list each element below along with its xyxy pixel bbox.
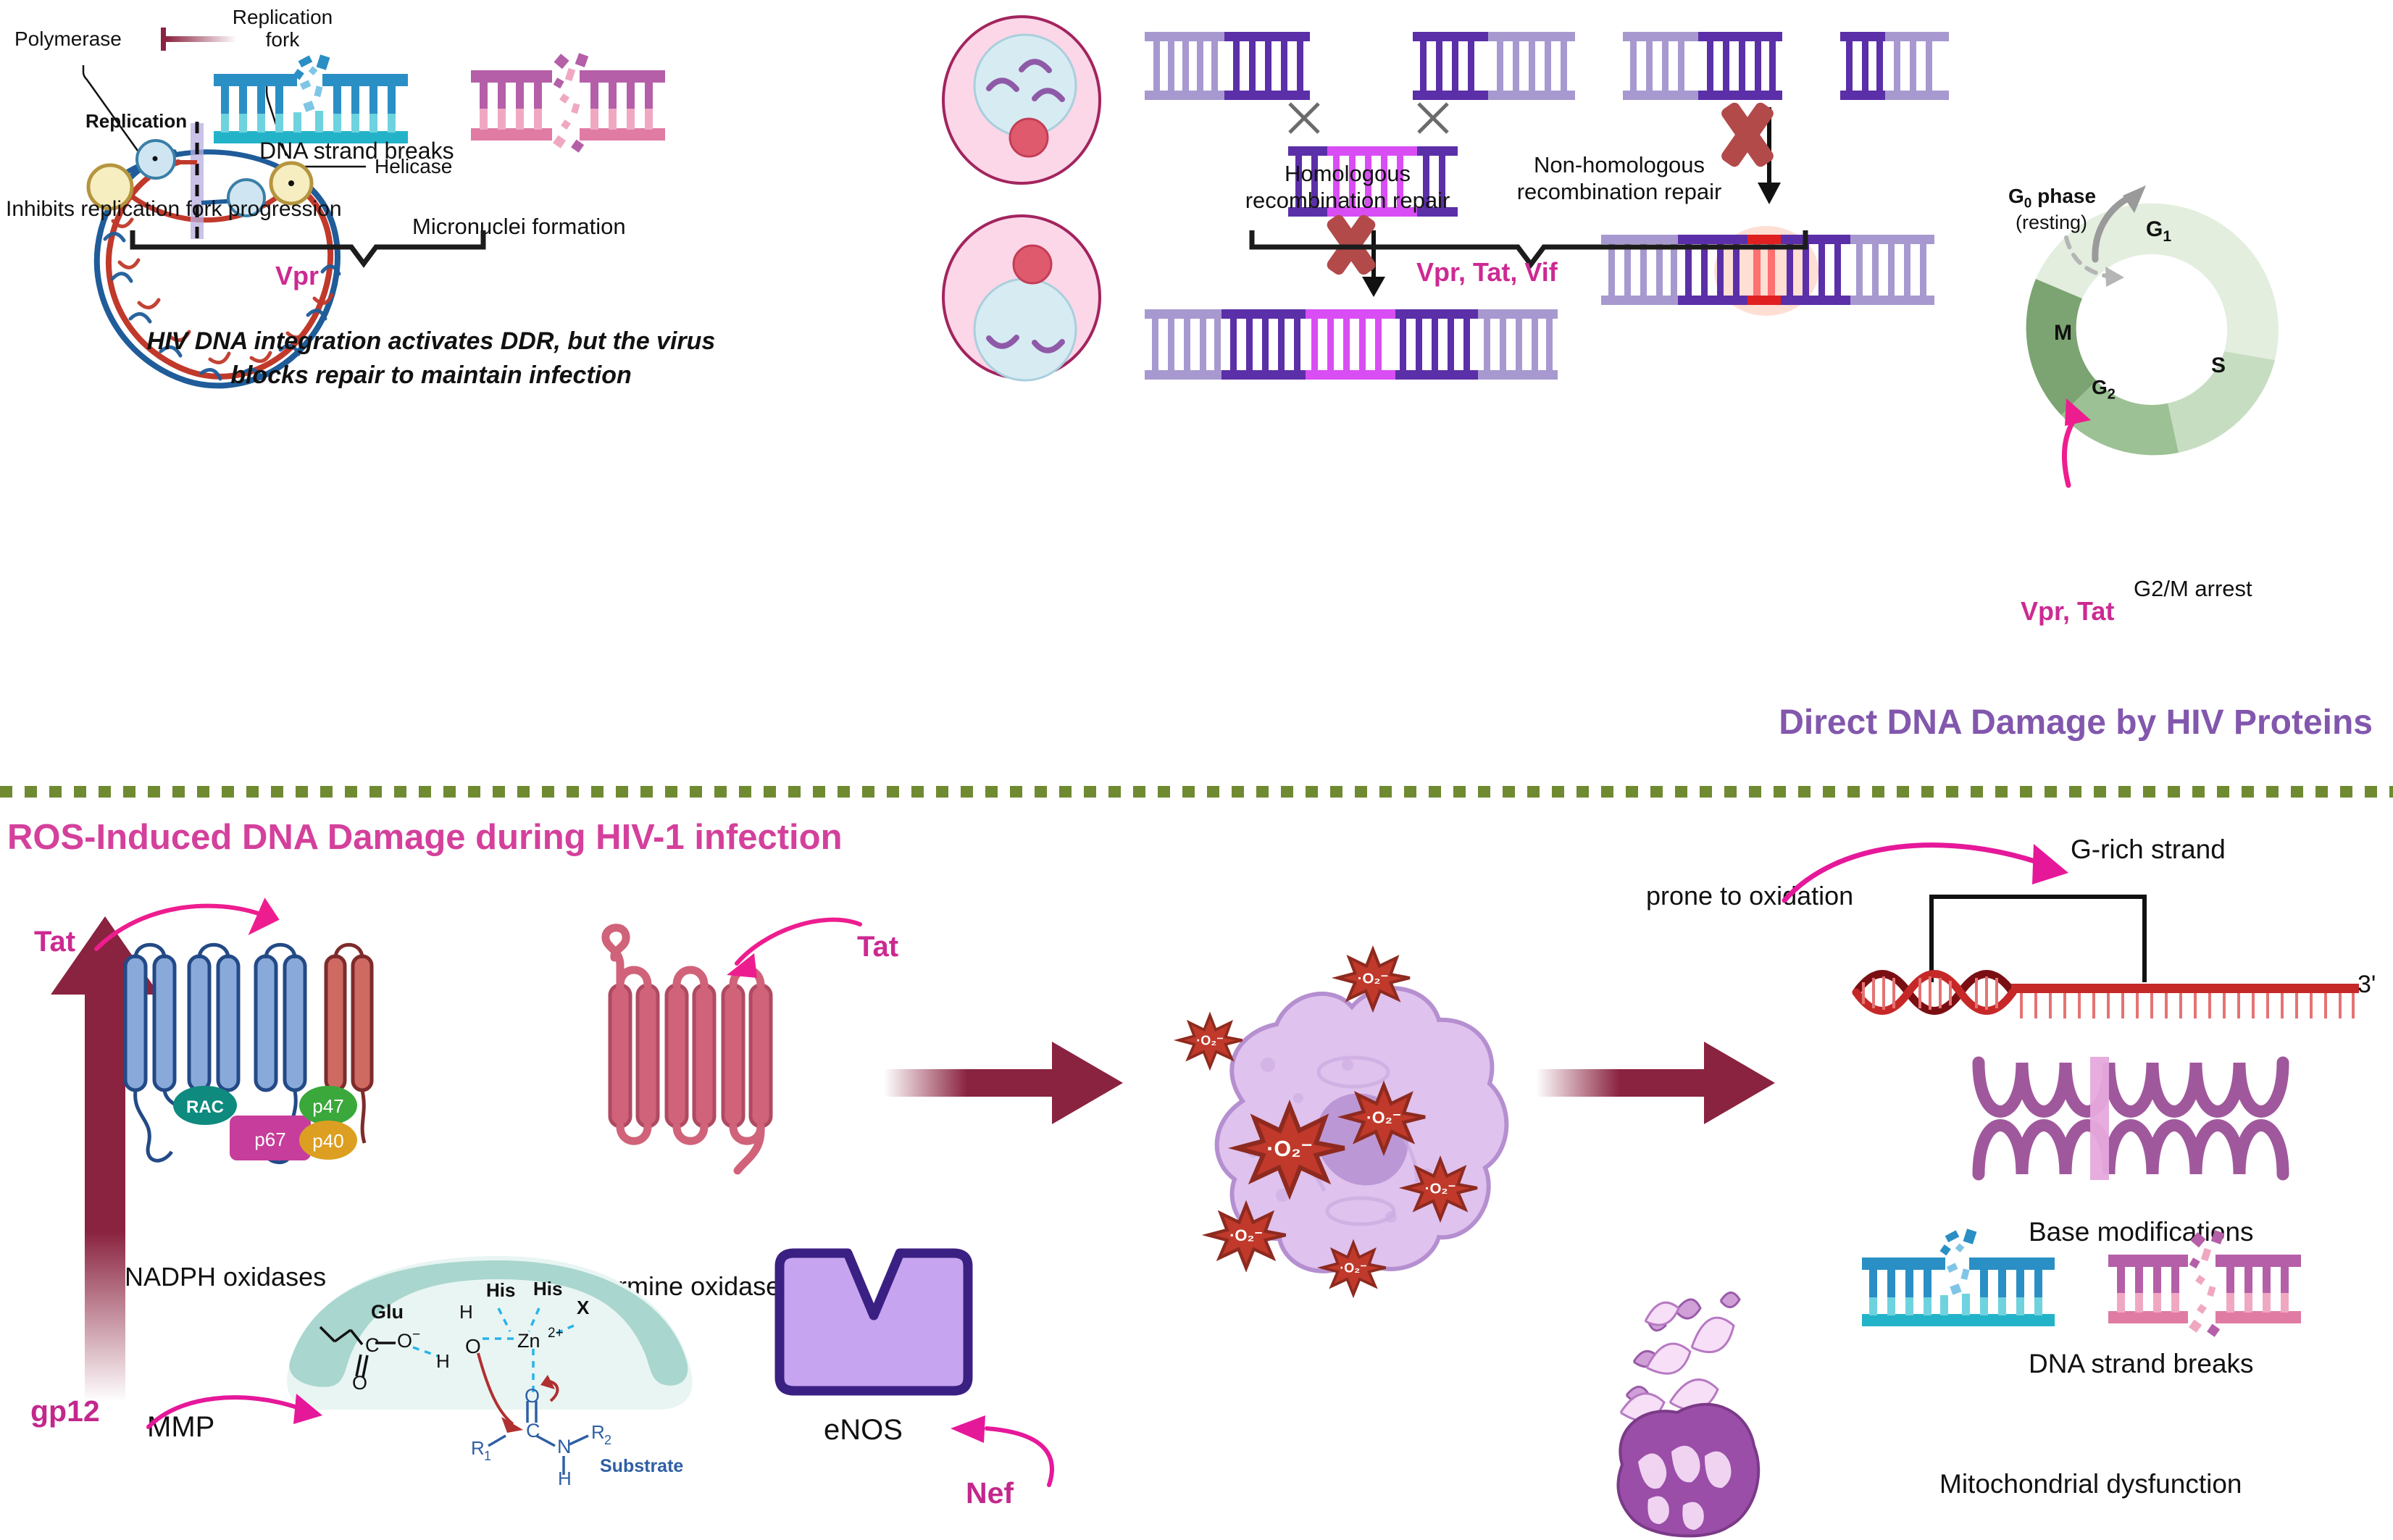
nonhomologous-repair-label: Non-homologous recombination repair xyxy=(1460,152,1779,205)
gp12-arrow xyxy=(141,1385,337,1450)
homologous-repair-label: Homologous recombination repair xyxy=(1224,161,1471,214)
dna-break-pink xyxy=(471,62,703,156)
micronucleus-dot xyxy=(1010,119,1048,156)
mmp-c1: C xyxy=(365,1334,380,1356)
mmp-h-top: H xyxy=(459,1301,473,1323)
mmp-r2: R xyxy=(591,1421,605,1443)
section-divider xyxy=(0,786,2393,798)
flow-arrow-2 xyxy=(1536,1036,1826,1130)
svg-text:·O₂⁻: ·O₂⁻ xyxy=(1366,1108,1401,1126)
svg-text:2: 2 xyxy=(604,1433,611,1447)
mmp-o-water: O xyxy=(465,1335,481,1357)
mmp-zn: Zn xyxy=(517,1330,540,1352)
three-prime-label: 3' xyxy=(2357,971,2376,999)
subunit-p67-text: p67 xyxy=(254,1129,285,1150)
s-label: S xyxy=(2211,353,2226,378)
polymerase-label: Polymerase xyxy=(14,28,122,51)
mmp-substrate: Substrate xyxy=(600,1456,683,1476)
m-label: M xyxy=(2054,321,2072,346)
base-modifications-helix xyxy=(1967,1047,2329,1192)
tat-label-nadph: Tat xyxy=(34,926,75,958)
crossover-x-icon xyxy=(1290,104,1448,133)
dna-strand-breaks-label-top: DNA strand breaks xyxy=(259,138,454,164)
dna-break-pink-bottom xyxy=(2108,1240,2340,1345)
duplex-1 xyxy=(1145,32,1310,100)
svg-text:1: 1 xyxy=(484,1449,491,1463)
modified-base-marker xyxy=(2090,1057,2109,1180)
direct-damage-heading: Direct DNA Damage by HIV Proteins xyxy=(1286,703,2373,742)
g-rich-strand-label: G-rich strand xyxy=(2071,834,2226,865)
g0-resting-label: (resting) xyxy=(2016,212,2087,234)
bracket-vpr-label: Vpr xyxy=(275,261,319,291)
mmp-o-minus: O xyxy=(397,1330,412,1352)
enos-shape xyxy=(767,1246,991,1413)
figure-canvas: Polymerase Replication fork Helicase Rep… xyxy=(0,0,2393,1540)
mmp-glu: Glu xyxy=(371,1301,404,1323)
svg-text:·O₂⁻: ·O₂⁻ xyxy=(1340,1260,1367,1275)
subunit-rac-text: RAC xyxy=(186,1097,224,1117)
svg-text:·O₂⁻: ·O₂⁻ xyxy=(1229,1226,1263,1244)
mmp-his-1: His xyxy=(486,1279,515,1301)
gp12-label: gp12 xyxy=(30,1394,100,1428)
summary-text: HIV DNA integration activates DDR, but t… xyxy=(83,325,779,393)
micronucleus-dot-2 xyxy=(1014,246,1051,283)
g2m-arrest-label: G2/M arrest xyxy=(2134,576,2252,602)
flow-arrow-1 xyxy=(884,1036,1174,1130)
bracket-vpr-tat-vif-label: Vpr, Tat, Vif xyxy=(1416,257,1558,288)
mitochondrion xyxy=(1605,1275,1938,1540)
nadph-oxidase-complex: RAC p67 p47 p40 xyxy=(120,934,402,1239)
svg-text:·O₂⁻: ·O₂⁻ xyxy=(1266,1137,1313,1161)
g0-phase-label: G0 phase xyxy=(2008,185,2096,212)
tat-arrow-spermine xyxy=(706,911,873,991)
cell-bottom xyxy=(943,216,1100,380)
duplex-2 xyxy=(1413,32,1575,100)
inhibits-fork-caption: Inhibits replication fork progression xyxy=(6,197,342,222)
g2-label: G2 xyxy=(2092,376,2116,403)
svg-text:·O₂⁻: ·O₂⁻ xyxy=(1196,1033,1224,1047)
vpr-tat-label: Vpr, Tat xyxy=(2021,596,2114,627)
mmp-h-n: H xyxy=(558,1468,572,1489)
mmp-n: N xyxy=(557,1436,572,1457)
micronuclei-cells xyxy=(895,25,1134,366)
duplex-nhej-1 xyxy=(1623,32,1782,100)
mmp-o-double: O xyxy=(352,1372,367,1394)
mmp-h-bottom: H xyxy=(436,1350,450,1372)
svg-text:·O₂⁻: ·O₂⁻ xyxy=(1358,970,1389,987)
duplex-hr-result xyxy=(1145,309,1558,380)
mmp-enzyme-diagram: Glu C O − O H H O His His X Zn 2+ O C N … xyxy=(281,1246,730,1485)
g1-label: G1 xyxy=(2146,217,2171,246)
replication-title: Replication xyxy=(85,110,187,133)
g-rich-dna xyxy=(1927,891,2393,1029)
subunit-p47-text: p47 xyxy=(312,1095,343,1117)
mmp-his-2: His xyxy=(533,1278,562,1300)
mmp-r1: R xyxy=(471,1437,485,1459)
mitochondrial-dysfunction-label: Mitochondrial dysfunction xyxy=(1939,1469,2242,1499)
svg-text:2+: 2+ xyxy=(548,1326,564,1341)
nef-arrow xyxy=(942,1413,1065,1489)
mmp-c2: C xyxy=(526,1420,540,1441)
cell-top xyxy=(943,17,1100,183)
mmp-o-carbonyl: O xyxy=(525,1385,540,1407)
inhibition-connector xyxy=(159,22,239,65)
duplex-nhej-2 xyxy=(1840,32,1949,100)
recombination-repair-diagram xyxy=(1145,28,1905,411)
ros-cell: ·O₂⁻ ·O₂⁻ ·O₂⁻ ·O₂⁻ ·O₂⁻ ·O₂⁻ xyxy=(1174,956,1550,1362)
enos-label: eNOS xyxy=(824,1414,903,1447)
subunit-p40-text: p40 xyxy=(312,1130,343,1152)
dna-strand-breaks-label-bottom: DNA strand breaks xyxy=(2029,1349,2254,1379)
svg-text:−: − xyxy=(412,1327,420,1342)
mmp-x: X xyxy=(577,1297,590,1318)
fork-band xyxy=(191,123,204,239)
ros-heading: ROS-Induced DNA Damage during HIV-1 infe… xyxy=(7,817,843,858)
svg-text:·O₂⁻: ·O₂⁻ xyxy=(1425,1180,1456,1197)
